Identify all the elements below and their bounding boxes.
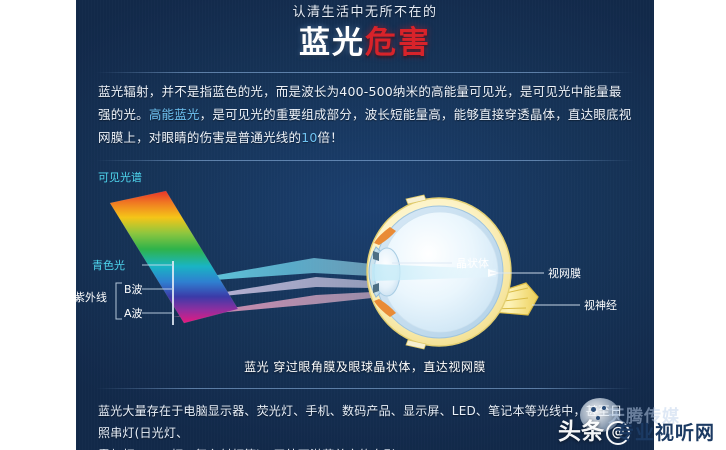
uvb-label: B波 <box>124 283 143 296</box>
eye-spectrum-figure: 可见光谱 青色光 B波 A波 紫外线 <box>76 165 654 383</box>
title-part-harm: 危害 <box>365 25 431 61</box>
poster-root: 认清生活中无所不在的 蓝光危害 蓝光辐射，并不是指蓝色的光，而是波长为400-5… <box>0 0 726 450</box>
platform-name: 头条 <box>558 419 604 445</box>
intro-line-3a: 的伤害是普通光线的 <box>187 130 301 145</box>
intro-paragraph: 蓝光辐射，并不是指蓝色的光，而是波长为400-500纳米的高能量可见光，是可见光… <box>98 80 634 149</box>
title-part-blue-light: 蓝光 <box>299 25 365 61</box>
lens-label: 晶状体 <box>456 256 489 270</box>
footer-paragraph: 蓝光大量存在于电脑显示器、荧光灯、手机、数码产品、显示屏、LED、笔记本等光线中… <box>98 400 634 450</box>
dark-panel: 认清生活中无所不在的 蓝光危害 蓝光辐射，并不是指蓝色的光，而是波长为400-5… <box>76 0 654 450</box>
kicker-text: 认清生活中无所不在的 <box>76 4 654 22</box>
footer-line-1: 蓝光大量存在于电脑显示器、荧光灯、手机、数码产品、显示屏、LED、笔记本等光线中… <box>98 400 634 444</box>
uv-label: 紫外线 <box>76 290 107 304</box>
intro-line-3b: 倍！ <box>318 130 343 145</box>
spectrum-label: 可见光谱 <box>98 170 142 184</box>
divider-top <box>96 72 634 73</box>
divider-middle <box>96 160 634 161</box>
footer-line-2: 霓虹灯，LED灯，舞台射灯等)，无处不潜藏着它的身影。 <box>98 444 634 450</box>
uva-label: A波 <box>124 307 143 320</box>
cyan-light-label: 青色光 <box>92 258 125 272</box>
retina-label: 视网膜 <box>548 266 581 280</box>
page-title: 蓝光危害 <box>76 24 654 62</box>
eyeball-diagram <box>367 195 538 349</box>
poster-header: 认清生活中无所不在的 蓝光危害 <box>76 4 654 62</box>
blob-dot-2 <box>602 406 606 410</box>
divider-lower <box>96 388 634 389</box>
intro-highlight-high-energy: 高能蓝光 <box>149 107 200 122</box>
optic-nerve-label: 视神经 <box>584 298 617 312</box>
channel-watermark: 专业视听网 <box>615 418 715 445</box>
intro-highlight-ten: 10 <box>301 130 317 145</box>
figure-caption: 蓝光 穿过眼角膜及眼球晶状体，直达视网膜 <box>76 358 654 376</box>
